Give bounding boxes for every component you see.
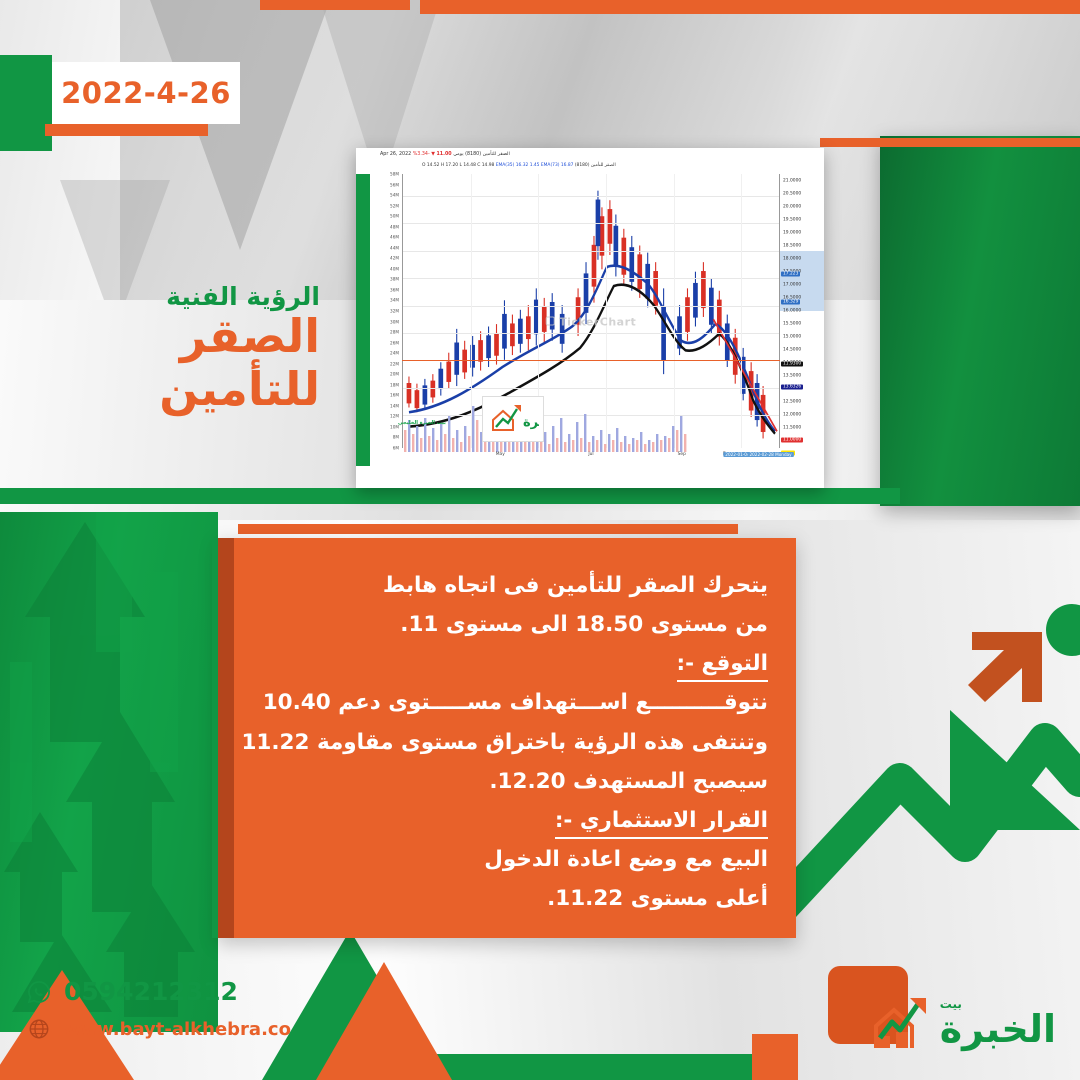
title-subtitle: الرؤية الفنية: [18, 282, 320, 312]
volume-axis-tick: 28M: [390, 330, 399, 335]
volume-axis-tick: 32M: [390, 309, 399, 314]
price-axis-tick: 15.5000: [783, 322, 801, 327]
price-axis-tick: 17.0000: [783, 282, 801, 287]
volume-axis-tick: 48M: [390, 224, 399, 229]
price-axis-tick: 15.0000: [783, 335, 801, 340]
volume-axis-tick: 8M: [393, 435, 399, 440]
volume-axis-tick: 38M: [390, 277, 399, 282]
date-badge: 2022-4-26: [52, 62, 240, 124]
decor-orange-rule-mid: [238, 524, 738, 534]
volume-axis-tick: 20M: [390, 372, 399, 377]
price-axis-tick: 20.5000: [783, 191, 801, 196]
date-axis-tick: Jul: [588, 452, 593, 457]
volume-axis-tick: 24M: [390, 351, 399, 356]
date-green-tab: [0, 55, 52, 151]
chart-change-arrow: ▼: [431, 152, 435, 157]
arrow-pattern-svg: [0, 512, 218, 1032]
decor-orange-arrow-head: [968, 632, 1042, 702]
text-panel-dark-edge: [218, 538, 234, 938]
volume-axis-tick: 58M: [390, 172, 399, 177]
bayt-alkhebra-mini-logo-icon: الخبرة: [487, 400, 539, 438]
brand-logo: بيت الخبرة: [868, 992, 1056, 1054]
chart-watermark-logo: الخبرة: [482, 396, 544, 442]
price-marker-chip: 11.0000: [781, 438, 803, 443]
chart-symbol-name: الصقر للتأمين: [483, 152, 510, 157]
volume-axis-tick: 46M: [390, 235, 399, 240]
decor-green-strip: [0, 488, 900, 504]
volume-axis-tick: 14M: [390, 403, 399, 408]
price-marker-chip: 17.223: [781, 272, 800, 277]
price-axis-tick: 18.5000: [783, 243, 801, 248]
brand-logo-text: بيت الخبرة: [940, 998, 1056, 1048]
chart-timeframe: يومي: [453, 152, 463, 157]
analysis-line: التوقع -:: [252, 644, 768, 683]
price-marker-chip: 11.9300: [781, 362, 803, 367]
volume-bars: [402, 400, 690, 452]
price-marker-chip: 16.329: [781, 300, 800, 305]
volume-axis-tick: 40M: [390, 266, 399, 271]
volume-axis-tick: 42M: [390, 256, 399, 261]
volume-axis-tick: 54M: [390, 193, 399, 198]
analysis-line: من مستوى 18.50 الى مستوى 11.: [252, 605, 768, 644]
decor-green-triangle-right: [950, 710, 1080, 830]
chart-watermark-text: بيت الخبرة الخليجي: [398, 420, 446, 426]
analysis-line: وتنتفى هذه الرؤية باختراق مستوى مقاومة 1…: [252, 723, 768, 762]
page-title: الرؤية الفنية الصقر للتأمين: [0, 282, 320, 416]
phone-number: 0594212312: [64, 977, 238, 1006]
chart-ema-35-value: 1.45: [530, 163, 540, 168]
volume-axis-tick: 36M: [390, 287, 399, 292]
analysis-heading-text: التوقع -:: [677, 651, 768, 682]
volume-axis-tick: 6M: [393, 446, 399, 451]
chart-header-line-1: الصقر للتأمين (8180) يومي 11.00 ▼ -3.34%…: [380, 152, 510, 157]
chart-date: Apr 26, 2022: [380, 152, 411, 157]
chart-symbol-code: (8180): [465, 152, 481, 157]
svg-text:الخبرة: الخبرة: [523, 415, 539, 430]
stock-chart-card[interactable]: الصقر للتأمين (8180) يومي 11.00 ▼ -3.34%…: [356, 148, 824, 488]
price-axis-tick: 20.0000: [783, 204, 801, 209]
title-main: الصقر للتأمين: [18, 310, 320, 416]
decor-green-panel-right: [880, 136, 1080, 506]
price-axis-tick: 12.0000: [783, 413, 801, 418]
date-axis-tick: Sep: [678, 452, 686, 457]
date-axis-tick: May: [496, 452, 505, 457]
top-orange-bar: [420, 0, 1080, 14]
top-orange-bar-secondary: [260, 0, 410, 10]
decor-green-arrow-panel: [0, 512, 218, 1032]
decor-green-block-bottom: [420, 1054, 780, 1080]
analysis-line: نتوقــــــــــع اســـتهداف مســـــتوى دع…: [252, 683, 768, 722]
chart-card-green-edge: [356, 174, 370, 466]
date-axis-chip: 2022-02-28 Monday: [747, 452, 793, 457]
price-axis-tick: 14.5000: [783, 348, 801, 353]
globe-icon: [26, 1016, 52, 1042]
volume-axis-tick: 18M: [390, 382, 399, 387]
analysis-line: القرار الاستثماري -:: [252, 801, 768, 840]
analysis-lines: يتحرك الصقر للتأمين فى اتجاه هابطمن مستو…: [218, 538, 796, 918]
analysis-line: سيصبح المستهدف 12.20.: [252, 762, 768, 801]
decor-orange-square: [752, 1034, 798, 1080]
price-axis-tick: 18.0000: [783, 256, 801, 261]
decor-orange-arrow-stem: [352, 1040, 416, 1080]
contact-row-phone[interactable]: 0594212312: [26, 977, 291, 1006]
chart-header-line-2: الصقر للتأمين (8180) O 14.52 H 17.20 L 1…: [422, 163, 616, 168]
whatsapp-icon: [26, 979, 52, 1005]
house-growth-arrow-icon: [868, 992, 934, 1054]
analysis-line: أعلى مستوى 11.22.: [252, 879, 768, 918]
volume-axis-tick: 22M: [390, 361, 399, 366]
chart-date-axis: MayJulSepDec 2022-01-04 Sunday2022-02-28…: [402, 452, 780, 464]
price-axis-tick: 11.5000: [783, 426, 801, 431]
support-resistance-line: [402, 360, 780, 361]
analysis-line: يتحرك الصقر للتأمين فى اتجاه هابط: [252, 566, 768, 605]
analysis-heading-text: القرار الاستثماري -:: [555, 808, 768, 839]
price-axis-tick: 16.0000: [783, 309, 801, 314]
volume-axis-tick: 16M: [390, 393, 399, 398]
price-axis-tick: 13.5000: [783, 374, 801, 379]
volume-axis-tick: 12M: [390, 414, 399, 419]
volume-axis-tick: 34M: [390, 298, 399, 303]
date-underline: [45, 124, 208, 136]
analysis-line: البيع مع وضع اعادة الدخول: [252, 840, 768, 879]
volume-axis-tick: 30M: [390, 319, 399, 324]
price-axis-tick: 19.5000: [783, 217, 801, 222]
brand-logo-main: الخبرة: [940, 1010, 1056, 1048]
decor-orange-rule-top-right: [820, 138, 1080, 147]
volume-axis-tick: 44M: [390, 245, 399, 250]
chart-provider-watermark: TickerChart: [546, 315, 637, 328]
contact-row-website[interactable]: www.bayt-alkhebra.co: [26, 1016, 291, 1042]
volume-axis-tick: 26M: [390, 340, 399, 345]
chart-change-pct: -3.34%: [413, 152, 430, 157]
website-url: www.bayt-alkhebra.co: [64, 1019, 291, 1040]
decor-green-dot: [1046, 604, 1080, 656]
price-marker-chip: 13.6326: [781, 384, 803, 389]
chart-ema-35: EMA(35) 16.32: [496, 163, 529, 168]
analysis-text-panel: يتحرك الصقر للتأمين فى اتجاه هابطمن مستو…: [218, 538, 796, 938]
volume-axis-tick: 52M: [390, 203, 399, 208]
price-axis-tick: 21.0000: [783, 178, 801, 183]
volume-axis-tick: 56M: [390, 182, 399, 187]
chart-last-price: 11.00: [436, 152, 451, 157]
price-axis-tick: 19.0000: [783, 230, 801, 235]
chart-price-axis: 21.000020.500020.000019.500019.000018.50…: [780, 174, 824, 448]
volume-axis-tick: 50M: [390, 214, 399, 219]
contact-block: 0594212312 www.bayt-alkhebra.co: [26, 977, 291, 1052]
date-badge-text: 2022-4-26: [61, 76, 231, 110]
chart-ema-73: EMA(73) 16.87: [541, 163, 574, 168]
price-axis-tick: 12.5000: [783, 400, 801, 405]
